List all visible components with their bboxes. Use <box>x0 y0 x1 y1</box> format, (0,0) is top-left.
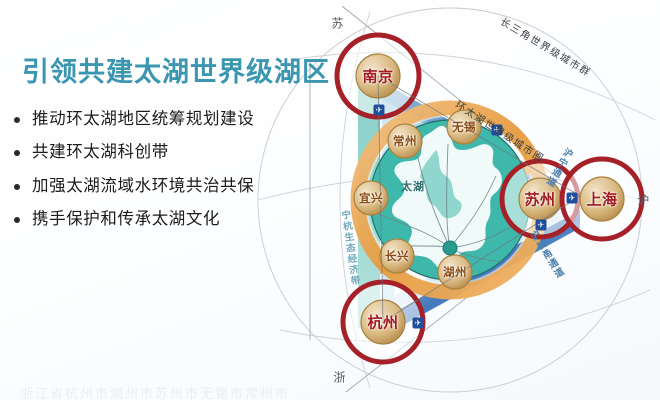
list-item: 携手保护和传承太湖文化 <box>14 208 314 230</box>
bullet-text: 推动环太湖地区统筹规划建设 <box>32 108 254 130</box>
province-label-jiangsu: 苏 <box>331 15 344 32</box>
left-text-panel: 引领共建太湖世界级湖区 推动环太湖地区统筹规划建设 共建环太湖科创带 加强太湖流… <box>0 0 320 400</box>
bullet-text: 携手保护和传承太湖文化 <box>32 208 220 230</box>
list-item: 推动环太湖地区统筹规划建设 <box>14 108 314 130</box>
airport-icon-hangzhou: ✈ <box>413 318 424 329</box>
province-label-shanghai: 沪 <box>637 192 650 209</box>
city-label-hangzhou[interactable]: 杭州 <box>367 312 398 333</box>
airport-icon-shanghai: ✈ <box>567 193 578 204</box>
bullet-text: 加强太湖流域水环境共治共保 <box>32 175 254 197</box>
lake-label-taihu: 太湖 <box>401 178 425 194</box>
city-label-yixing[interactable]: 宜兴 <box>359 190 383 206</box>
city-label-huzhou[interactable]: 湖州 <box>443 264 467 280</box>
bullet-dot-icon <box>14 217 20 223</box>
city-label-suzhou[interactable]: 苏州 <box>524 189 555 210</box>
slide-root: 引领共建太湖世界级湖区 推动环太湖地区统筹规划建设 共建环太湖科创带 加强太湖流… <box>0 0 660 400</box>
city-label-changxing[interactable]: 长兴 <box>385 248 409 264</box>
bullet-dot-icon <box>14 150 20 156</box>
city-label-changzhou[interactable]: 常州 <box>393 133 417 149</box>
list-item: 加强太湖流域水环境共治共保 <box>14 175 314 197</box>
bullet-dot-icon <box>14 184 20 190</box>
city-label-nanjing[interactable]: 南京 <box>362 66 393 87</box>
bullet-dot-icon <box>14 117 20 123</box>
list-item: 共建环太湖科创带 <box>14 141 314 163</box>
airport-icon-nanjing: ✈ <box>374 105 385 116</box>
bullet-list: 推动环太湖地区统筹规划建设 共建环太湖科创带 加强太湖流域水环境共治共保 携手保… <box>14 108 314 241</box>
city-label-shanghai[interactable]: 上海 <box>586 189 617 210</box>
province-label-zhejiang: 浙 <box>333 369 346 386</box>
bullet-text: 共建环太湖科创带 <box>32 141 169 163</box>
page-title: 引领共建太湖世界级湖区 <box>22 50 330 89</box>
